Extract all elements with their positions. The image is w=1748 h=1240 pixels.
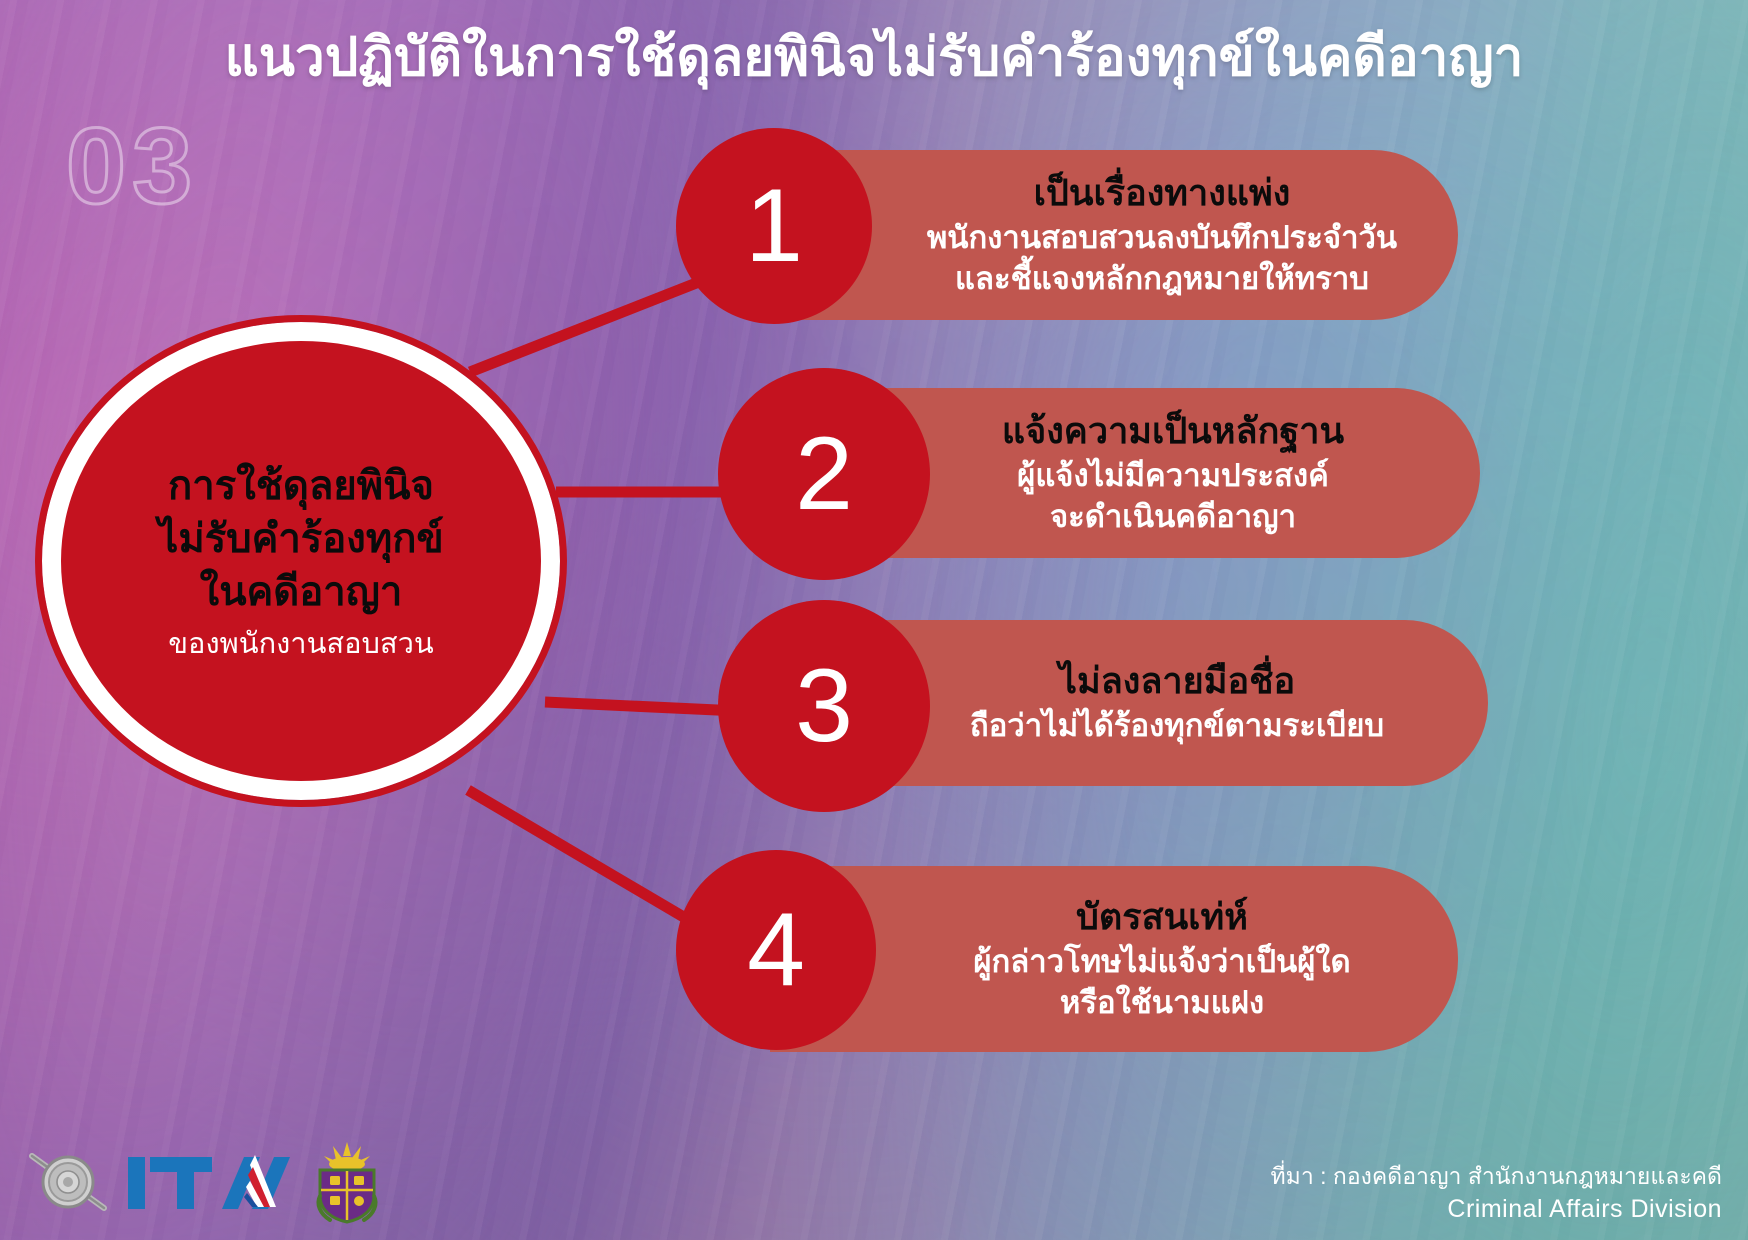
item-body-line-2-2: จะดำเนินคดีอาญา — [1017, 497, 1329, 537]
item-body-line-1-1: พนักงานสอบสวนลงบันทึกประจำวัน — [927, 218, 1397, 258]
item-body-line-4-2: หรือใช้นามแฝง — [973, 983, 1350, 1023]
royal-thai-police-badge-icon — [24, 1142, 112, 1222]
center-title-line-1: การใช้ดุลยพินิจ — [158, 460, 444, 513]
item-body-line-2-1: ผู้แจ้งไม่มีความประสงค์ — [1017, 456, 1329, 496]
item-body-3: ถือว่าไม่ได้ร้องทุกข์ตามระเบียบ — [970, 706, 1384, 746]
center-title: การใช้ดุลยพินิจ ไม่รับคำร้องทุกข์ ในคดีอ… — [158, 460, 444, 618]
page-title: แนวปฏิบัติในการใช้ดุลยพินิจไม่รับคำร้องท… — [0, 28, 1748, 89]
center-title-line-3: ในคดีอาญา — [158, 566, 444, 619]
section-number-watermark: 03 — [66, 112, 198, 220]
ita-logo — [126, 1145, 296, 1219]
item-number-circle-1: 1 — [676, 128, 872, 324]
item-heading-4: บัตรสนเท่ห์ — [1076, 895, 1248, 938]
item-card-1: เป็นเรื่องทางแพ่ง พนักงานสอบสวนลงบันทึกป… — [770, 150, 1458, 320]
item-body-2: ผู้แจ้งไม่มีความประสงค์ จะดำเนินคดีอาญา — [1017, 456, 1329, 537]
item-body-1: พนักงานสอบสวนลงบันทึกประจำวัน และชี้แจงห… — [927, 218, 1397, 299]
item-heading-2: แจ้งความเป็นหลักฐาน — [1002, 409, 1344, 452]
item-heading-1: เป็นเรื่องทางแพ่ง — [1034, 171, 1291, 214]
item-body-line-4-1: ผู้กล่าวโทษไม่แจ้งว่าเป็นผู้ใด — [973, 942, 1350, 982]
center-node: การใช้ดุลยพินิจ ไม่รับคำร้องทุกข์ ในคดีอ… — [42, 322, 560, 800]
footer-credit: ที่มา : กองคดีอาญา สำนักงานกฎหมายและคดี … — [1271, 1161, 1722, 1226]
footer-source-en: Criminal Affairs Division — [1271, 1192, 1722, 1226]
center-subtitle: ของพนักงานสอบสวน — [168, 627, 434, 662]
item-body-line-3-1: ถือว่าไม่ได้ร้องทุกข์ตามระเบียบ — [970, 706, 1384, 746]
item-heading-3: ไม่ลงลายมือชื่อ — [1059, 659, 1295, 702]
item-number-1: 1 — [745, 174, 803, 278]
royal-thai-police-crest-icon — [310, 1140, 384, 1224]
footer-source-th: ที่มา : กองคดีอาญา สำนักงานกฎหมายและคดี — [1271, 1161, 1722, 1192]
item-body-line-1-2: และชี้แจงหลักกฎหมายให้ทราบ — [927, 259, 1397, 299]
footer-logos — [24, 1134, 384, 1230]
item-number-circle-2: 2 — [718, 368, 930, 580]
item-body-4: ผู้กล่าวโทษไม่แจ้งว่าเป็นผู้ใด หรือใช้นา… — [973, 942, 1350, 1023]
item-number-2: 2 — [795, 422, 853, 526]
center-title-line-2: ไม่รับคำร้องทุกข์ — [158, 513, 444, 566]
item-number-4: 4 — [747, 898, 805, 1002]
item-number-3: 3 — [795, 654, 853, 758]
infographic-canvas: แนวปฏิบัติในการใช้ดุลยพินิจไม่รับคำร้องท… — [0, 0, 1748, 1240]
item-number-circle-3: 3 — [718, 600, 930, 812]
item-number-circle-4: 4 — [676, 850, 876, 1050]
